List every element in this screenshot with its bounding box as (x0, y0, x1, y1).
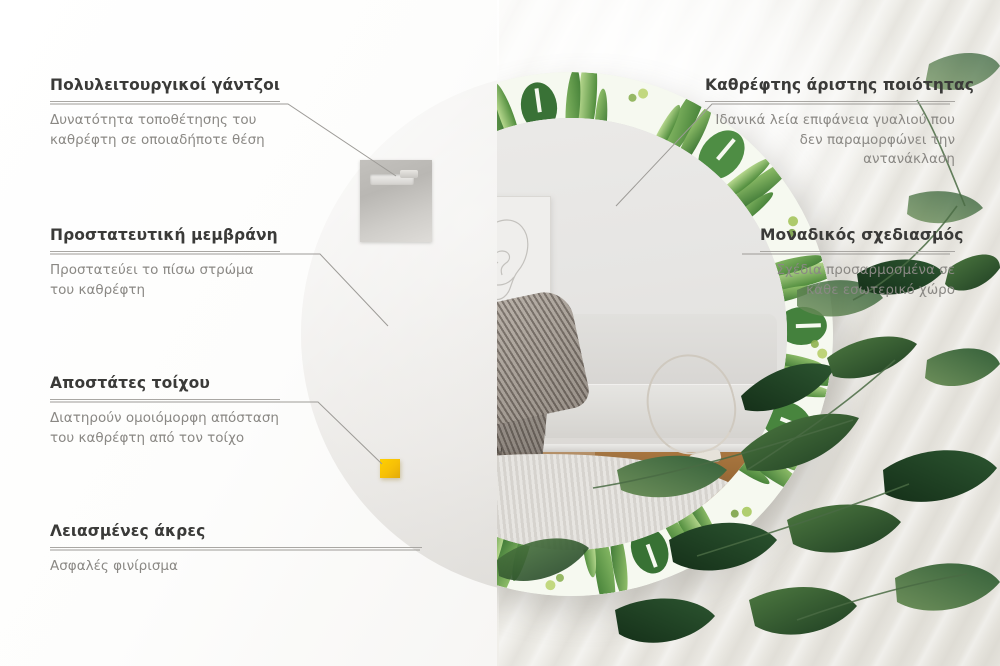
infographic-stage: Πολυλειτουργικοί γάντζοι Δυνατότητα τοπο… (0, 0, 1000, 666)
callout-rule (50, 399, 280, 400)
callout-top-quality-mirror: Καθρέφτης άριστης ποιότητας Ιδανικά λεία… (705, 76, 955, 170)
callout-wall-spacers: Αποστάτες τοίχου Διατηρούν ομοιόμορφη απ… (50, 374, 280, 448)
callout-title: Πολυλειτουργικοί γάντζοι (50, 76, 280, 94)
wall-spacer-block (380, 459, 400, 478)
callout-unique-design: Μοναδικός σχεδιασμός Σχέδια προσαρμοσμέν… (760, 226, 955, 300)
callout-title: Καθρέφτης άριστης ποιότητας (705, 76, 955, 94)
mounting-hook-plate (360, 160, 432, 242)
callout-rule (50, 251, 280, 252)
callout-description: Δυνατότητα τοποθέτησης του καθρέφτη σε ο… (50, 111, 280, 150)
hook-slot (370, 174, 414, 185)
callout-description: Ασφαλές φινίρισμα (50, 557, 422, 577)
callout-description: Διατηρούν ομοιόμορφη απόσταση του καθρέφ… (50, 409, 280, 448)
mirror-silhouette-shading (301, 72, 497, 596)
callout-multifunctional-hooks: Πολυλειτουργικοί γάντζοι Δυνατότητα τοπο… (50, 76, 280, 150)
callout-title: Μοναδικός σχεδιασμός (760, 226, 955, 244)
callout-rule (705, 101, 955, 102)
reflected-sofa (497, 314, 787, 450)
callout-title: Λειασμένες άκρες (50, 522, 422, 540)
mirror-glass-reflection (497, 118, 787, 550)
callout-description: Σχέδια προσαρμοσμένα σε κάθε εσωτερικό χ… (760, 261, 955, 300)
callout-description: Ιδανικά λεία επιφάνεια γυαλιού που δεν π… (705, 111, 955, 170)
callout-smoothed-edges: Λειασμένες άκρες Ασφαλές φινίρισμα (50, 522, 422, 577)
callout-description: Προστατεύει το πίσω στρώμα του καθρέφτη (50, 261, 280, 300)
callout-protective-membrane: Προστατευτική μεμβράνη Προστατεύει το πί… (50, 226, 280, 300)
callout-title: Προστατευτική μεμβράνη (50, 226, 280, 244)
callout-rule (50, 547, 422, 548)
callout-rule (50, 101, 280, 102)
callout-title: Αποστάτες τοίχου (50, 374, 280, 392)
callout-rule (760, 251, 955, 252)
